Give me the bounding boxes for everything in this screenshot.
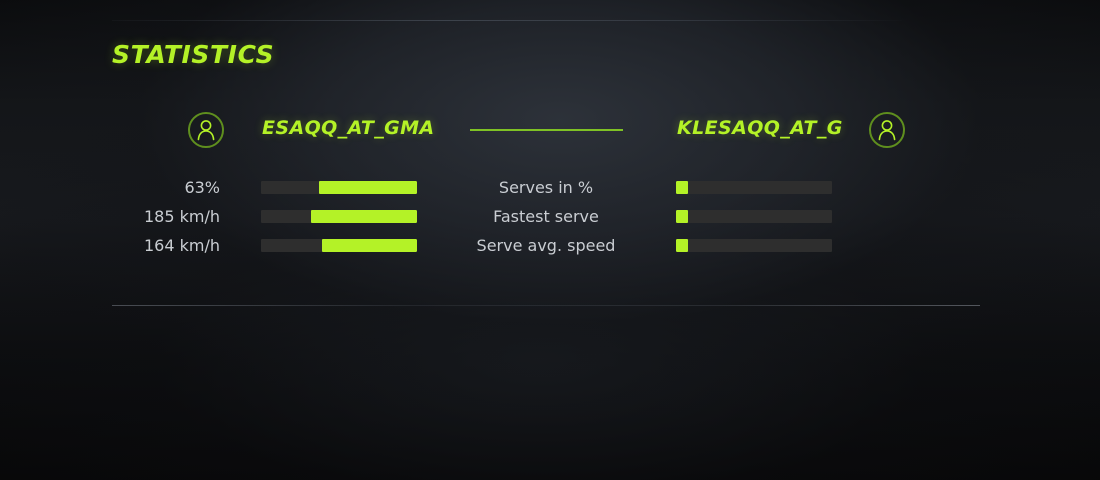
stat-left-bar: [261, 210, 417, 223]
statistics-panel: STATISTICS ESAQQ_AT_GMA KLESAQQ_AT_G 63%: [0, 0, 1100, 480]
player-right-avatar[interactable]: [867, 110, 907, 150]
stat-left-value: 63%: [112, 178, 220, 197]
stat-label: Serves in %: [442, 178, 650, 197]
stat-left-bar: [261, 239, 417, 252]
stat-left-bar-fill: [319, 181, 417, 194]
stat-right-bar-fill: [676, 181, 688, 194]
player-left-name: ESAQQ_AT_GMA: [262, 117, 435, 139]
header-divider-line: [470, 129, 623, 131]
player-right-name: KLESAQQ_AT_G: [677, 117, 843, 139]
top-divider: [112, 20, 902, 21]
stat-right-bar: [676, 239, 832, 252]
stat-left-bar-fill: [322, 239, 417, 252]
stat-row: 185 km/h Fastest serve: [112, 205, 980, 234]
players-header: ESAQQ_AT_GMA KLESAQQ_AT_G: [112, 110, 980, 150]
page-title: STATISTICS: [112, 40, 274, 69]
stat-right-bar-fill: [676, 210, 688, 223]
stat-left-value: 185 km/h: [112, 207, 220, 226]
stat-left-bar-fill: [311, 210, 417, 223]
stat-label: Fastest serve: [442, 207, 650, 226]
stat-right-bar: [676, 181, 832, 194]
stats-list: 63% Serves in % 185 km/h Fastest serve 1…: [112, 176, 980, 263]
stat-row: 63% Serves in %: [112, 176, 980, 205]
stat-right-bar: [676, 210, 832, 223]
stat-left-bar: [261, 181, 417, 194]
stat-row: 164 km/h Serve avg. speed: [112, 234, 980, 263]
stat-right-bar-fill: [676, 239, 688, 252]
stat-label: Serve avg. speed: [442, 236, 650, 255]
stat-left-value: 164 km/h: [112, 236, 220, 255]
player-left-avatar[interactable]: [186, 110, 226, 150]
bottom-divider: [112, 305, 980, 306]
